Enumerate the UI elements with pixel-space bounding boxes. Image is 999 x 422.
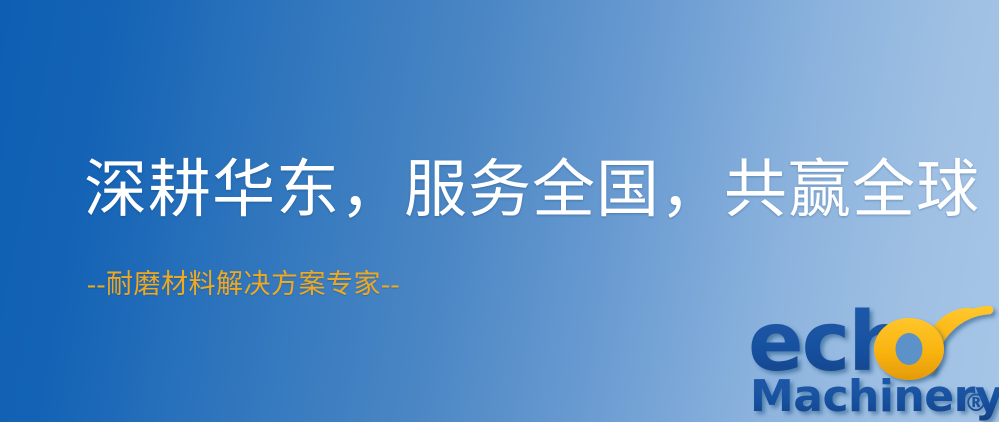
page-subtitle: --耐磨材料解决方案专家-- bbox=[87, 268, 400, 300]
logo-registered-mark: ® bbox=[964, 389, 988, 417]
echo-machinery-logo[interactable]: ech Machinery ® bbox=[748, 292, 999, 422]
hero-banner: 深耕华东，服务全国，共赢全球 --耐磨材料解决方案专家-- bbox=[0, 0, 999, 422]
logo-machinery-text: Machinery bbox=[750, 371, 999, 422]
page-title: 深耕华东，服务全国，共赢全球 bbox=[84, 152, 980, 228]
